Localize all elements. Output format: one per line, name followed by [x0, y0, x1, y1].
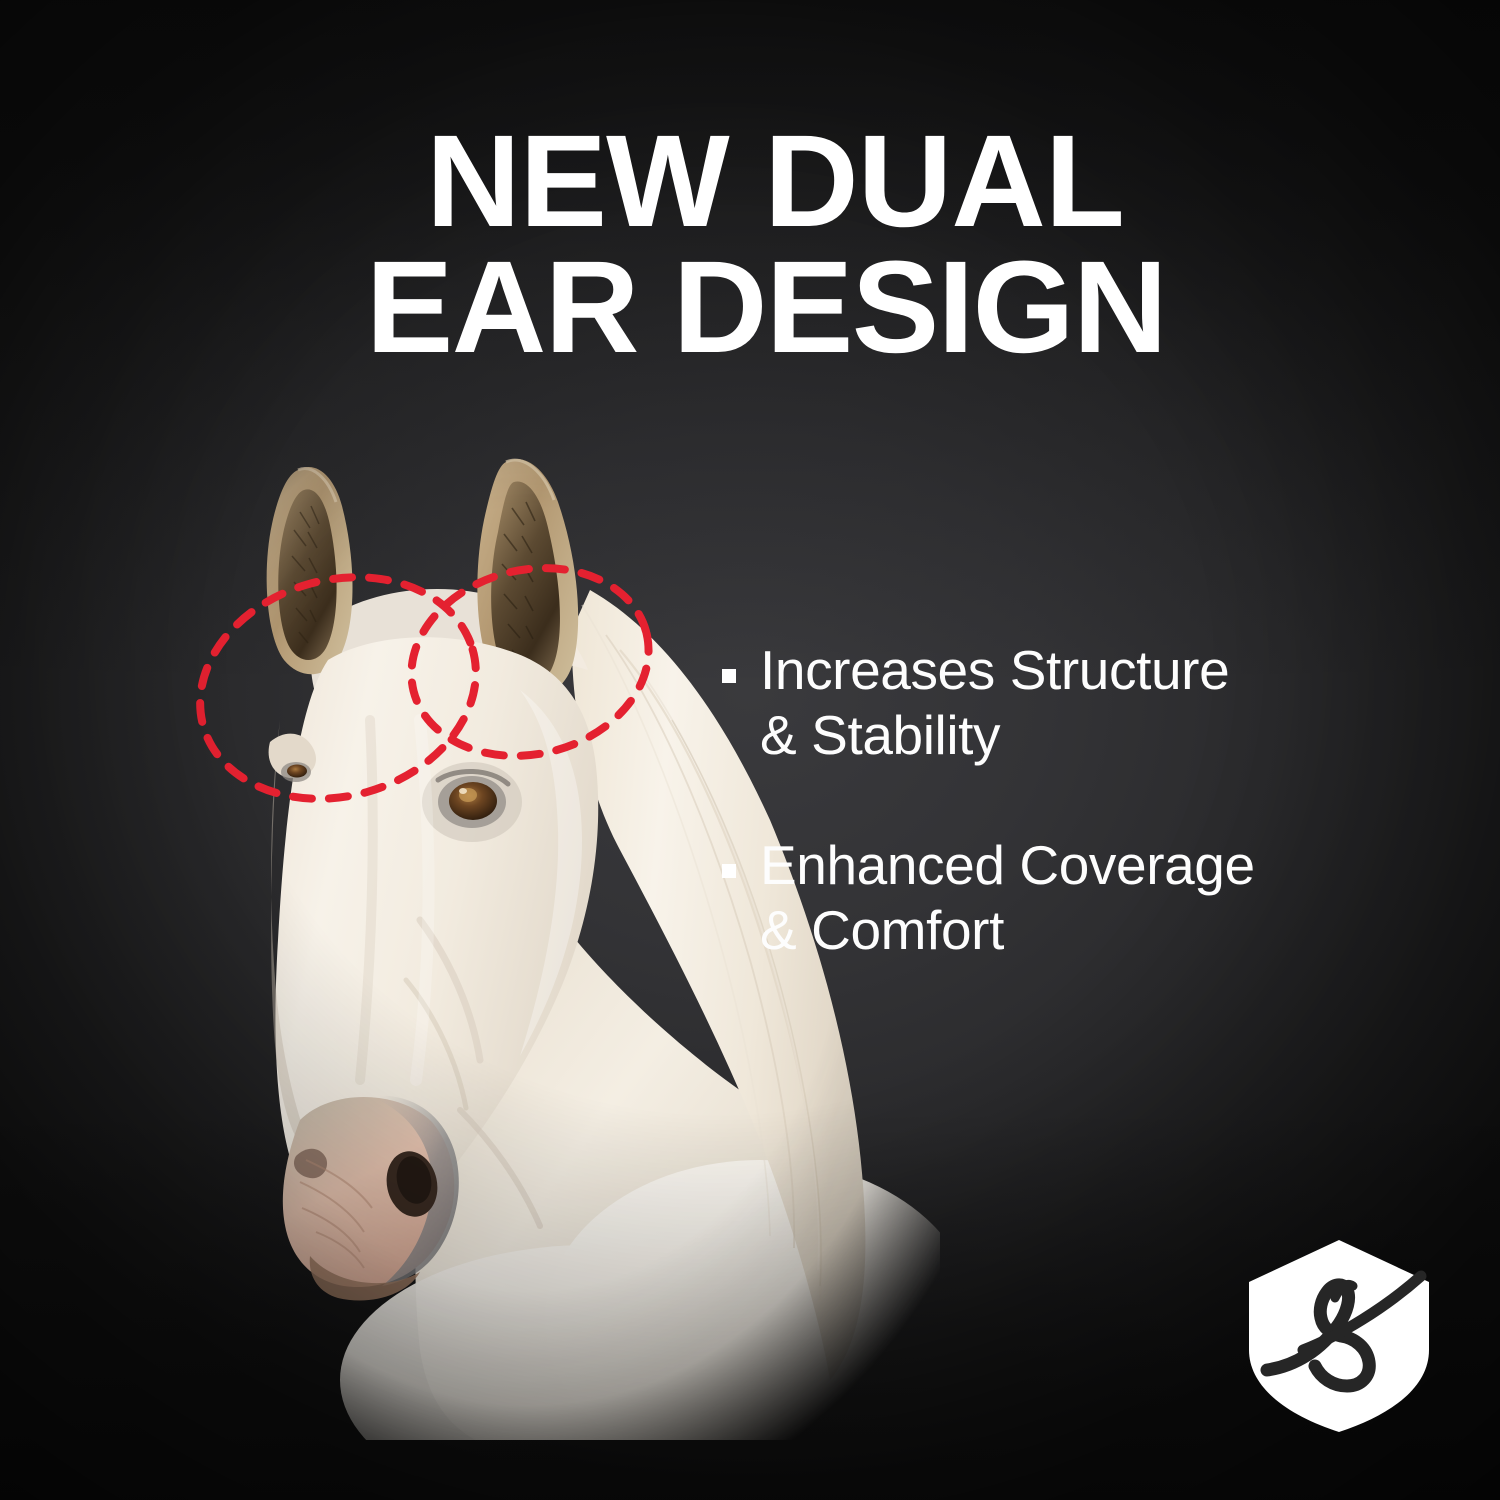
list-item: Enhanced Coverage & Comfort	[722, 833, 1422, 964]
feature-line-2: & Stability	[760, 704, 1000, 766]
brand-logo	[1243, 1238, 1435, 1434]
square-bullet-icon	[722, 669, 736, 683]
feature-line-1: Increases Structure	[760, 639, 1229, 701]
square-bullet-icon	[722, 864, 736, 878]
feature-line-2: & Comfort	[760, 899, 1004, 961]
feature-text: Increases Structure & Stability	[760, 638, 1229, 769]
shield-k-logo-icon	[1243, 1238, 1435, 1434]
feature-list: Increases Structure & Stability Enhanced…	[722, 638, 1422, 964]
list-item: Increases Structure & Stability	[722, 638, 1422, 769]
headline-line-1: NEW DUAL	[286, 118, 1246, 244]
feature-line-1: Enhanced Coverage	[760, 834, 1255, 896]
feature-text: Enhanced Coverage & Comfort	[760, 833, 1255, 964]
promo-banner: NEW DUAL EAR DESIGN Increases Structure …	[0, 0, 1500, 1500]
headline-line-2: EAR DESIGN	[286, 244, 1246, 370]
page-title: NEW DUAL EAR DESIGN	[286, 118, 1246, 371]
